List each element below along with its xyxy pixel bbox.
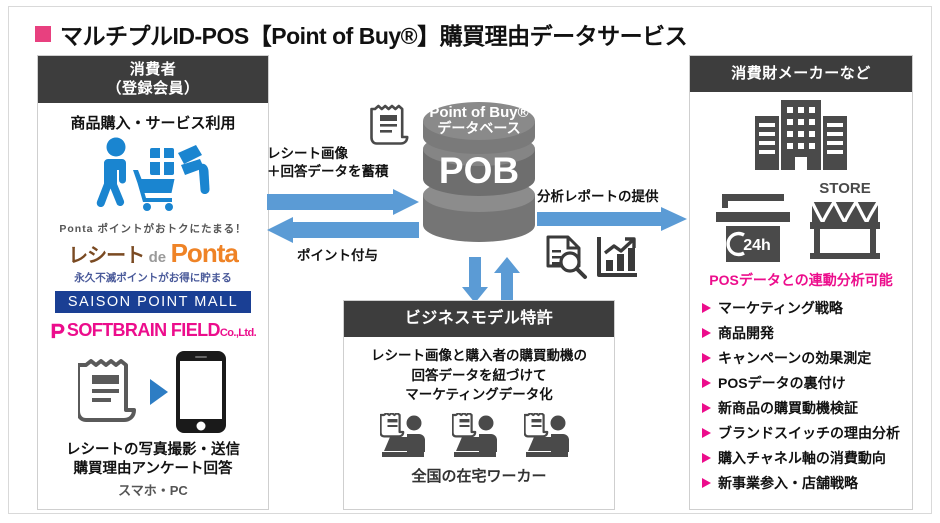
- patent-body-text: レシート画像と購入者の購買動機の 回答データを紐づけて マーケティングデータ化: [344, 346, 614, 405]
- flow-left-label: レシート画像 ＋回答データを蓄積: [267, 145, 389, 180]
- vertical-double-arrow-icon: [461, 257, 521, 303]
- slide-frame: マルチプルID-POS【Point of Buy®】購買理由データサービス 消費…: [8, 6, 932, 514]
- arrow-report-icon: [537, 207, 687, 231]
- patent-panel-body: レシート画像と購入者の購買動機の 回答データを紐づけて マーケティングデータ化: [344, 346, 614, 486]
- patent-panel-header: ビジネスモデル特許: [344, 301, 614, 337]
- pos-highlight-text: POSデータとの連動分析可能: [690, 270, 912, 290]
- consumer-panel-body: 商品購入・サービス利用 Ponta ポイントがおトクにたまる！: [38, 112, 268, 499]
- triangle-bullet-icon: [702, 378, 711, 388]
- report-icons-group: [543, 234, 687, 280]
- worker-label: 全国の在宅ワーカー: [344, 465, 614, 486]
- flow-right-group: 分析レポートの提供: [537, 185, 687, 285]
- maker-panel: 消費財メーカーなど: [689, 55, 913, 510]
- ponta-logo: レシート de Ponta: [38, 238, 268, 269]
- bidirectional-arrows-group: [461, 257, 521, 303]
- benefits-list: マーケティング戦略 商品開発 キャンペーンの効果測定 POSデータの裏付け 新商…: [690, 295, 912, 495]
- ponta-logo-part3: Ponta: [171, 238, 238, 268]
- maker-panel-body: 24h STORE POSデータとの連動分析可能: [690, 98, 912, 495]
- triangle-bullet-icon: [702, 403, 711, 413]
- store-label: STORE: [819, 180, 870, 197]
- consumer-header-line1: 消費者: [130, 61, 177, 80]
- softbrain-mark-icon: [50, 322, 67, 339]
- document-search-icon: [543, 234, 589, 280]
- page-title: マルチプルID-POS【Point of Buy®】購買理由データサービス: [35, 17, 687, 51]
- store-icons-row: 24h STORE: [714, 178, 888, 264]
- list-item-label: 購入チャネル軸の消費動向: [718, 448, 886, 468]
- shopper-icon-wrap: [38, 137, 268, 215]
- list-item-label: 新商品の購買動機検証: [718, 398, 858, 418]
- ponta-subline: 永久不滅ポイントがお得に貯まる: [38, 270, 268, 285]
- consumer-panel-header: 消費者 （登録会員）: [38, 56, 268, 103]
- home-worker-laptop-icon: [524, 413, 578, 461]
- triangle-bullet-icon: [702, 303, 711, 313]
- arrow-to-database-icon: [267, 189, 419, 215]
- receipt-to-phone-group: [38, 349, 268, 435]
- device-label: スマホ・PC: [38, 480, 268, 499]
- consumer-panel: 消費者 （登録会員） 商品購入・サービス利用: [37, 55, 269, 510]
- ponta-logo-part1: レシート: [68, 245, 144, 267]
- patent-line3: マーケティングデータ化: [344, 385, 614, 405]
- triangle-bullet-icon: [702, 353, 711, 363]
- list-item-label: 商品開発: [718, 323, 774, 343]
- list-item[interactable]: ブランドスイッチの理由分析: [690, 420, 912, 445]
- list-item[interactable]: キャンペーンの効果測定: [690, 345, 912, 370]
- list-item[interactable]: マーケティング戦略: [690, 295, 912, 320]
- list-item-label: キャンペーンの効果測定: [718, 348, 871, 368]
- retail-store-icon: STORE: [802, 178, 888, 264]
- saison-point-mall-logo: SAISON POINT MALL: [55, 291, 251, 313]
- bar-chart-trend-icon: [595, 234, 641, 280]
- action-text: レシートの写真撮影・送信 購買理由アンケート回答: [38, 441, 268, 479]
- home-worker-laptop-icon: [380, 413, 434, 461]
- list-item[interactable]: 商品開発: [690, 320, 912, 345]
- arrow-right-icon: [146, 376, 172, 408]
- title-bullet-icon: [35, 26, 51, 42]
- purchase-label: 商品購入・サービス利用: [38, 112, 268, 133]
- page-title-text: マルチプルID-POS【Point of Buy®】購買理由データサービス: [60, 17, 687, 51]
- office-building-icon: [745, 98, 857, 176]
- pob-database-icon: Point of Buy® データベース POB: [409, 99, 549, 264]
- worker-icons-group: [344, 413, 614, 461]
- action-line1: レシートの写真撮影・送信: [38, 441, 268, 460]
- softbrain-suffix: Co.,Ltd.: [220, 327, 256, 339]
- triangle-bullet-icon: [702, 453, 711, 463]
- list-item-label: マーケティング戦略: [718, 298, 843, 318]
- patent-line2: 回答データを紐づけて: [344, 366, 614, 386]
- patent-panel: ビジネスモデル特許 レシート画像と購入者の購買動機の 回答データを紐づけて マー…: [343, 300, 615, 510]
- convenience-store-24h-icon: 24h: [714, 192, 792, 264]
- list-item[interactable]: POSデータの裏付け: [690, 370, 912, 395]
- consumer-header-line2: （登録会員）: [106, 80, 199, 99]
- list-item[interactable]: 新事業参入・店舗戦略: [690, 470, 912, 495]
- ponta-tagline: Ponta ポイントがおトクにたまる！: [38, 221, 268, 236]
- flow-left-label-line1: レシート画像: [267, 145, 389, 163]
- triangle-bullet-icon: [702, 428, 711, 438]
- smartphone-icon: [174, 349, 228, 435]
- flow-left-label-line2: ＋回答データを蓄積: [267, 163, 389, 181]
- database-top-line1: Point of Buy®: [429, 104, 528, 121]
- receipt-icon: [78, 357, 144, 427]
- softbrain-field-logo: SOFTBRAIN FIELDCo.,Ltd.: [38, 320, 268, 341]
- triangle-bullet-icon: [702, 478, 711, 488]
- flow-right-label: 分析レポートの提供: [537, 185, 687, 205]
- flow-left-return-label: ポイント付与: [297, 247, 378, 265]
- arrow-points-back-icon: [267, 217, 419, 243]
- ponta-logo-part2: de: [149, 249, 167, 266]
- list-item-label: 新事業参入・店舗戦略: [718, 473, 858, 493]
- maker-icons-group: 24h STORE: [690, 98, 912, 264]
- home-worker-laptop-icon: [452, 413, 506, 461]
- maker-panel-header: 消費財メーカーなど: [690, 56, 912, 92]
- database-top-line2: データベース: [437, 120, 520, 136]
- flow-left-group: レシート画像 ＋回答データを蓄積 ポイント付与: [267, 107, 427, 277]
- softbrain-name: SOFTBRAIN FIELD: [67, 320, 220, 340]
- list-item[interactable]: 購入チャネル軸の消費動向: [690, 445, 912, 470]
- list-item-label: POSデータの裏付け: [718, 373, 846, 393]
- triangle-bullet-icon: [702, 328, 711, 338]
- patent-line1: レシート画像と購入者の購買動機の: [344, 346, 614, 366]
- shopper-with-cart-icon: [89, 137, 217, 215]
- list-item[interactable]: 新商品の購買動機検証: [690, 395, 912, 420]
- hours-label: 24h: [743, 237, 771, 254]
- database-acronym: POB: [439, 150, 519, 191]
- list-item-label: ブランドスイッチの理由分析: [718, 423, 900, 443]
- action-line2: 購買理由アンケート回答: [38, 460, 268, 479]
- database-cylinder: Point of Buy® データベース POB: [409, 99, 549, 264]
